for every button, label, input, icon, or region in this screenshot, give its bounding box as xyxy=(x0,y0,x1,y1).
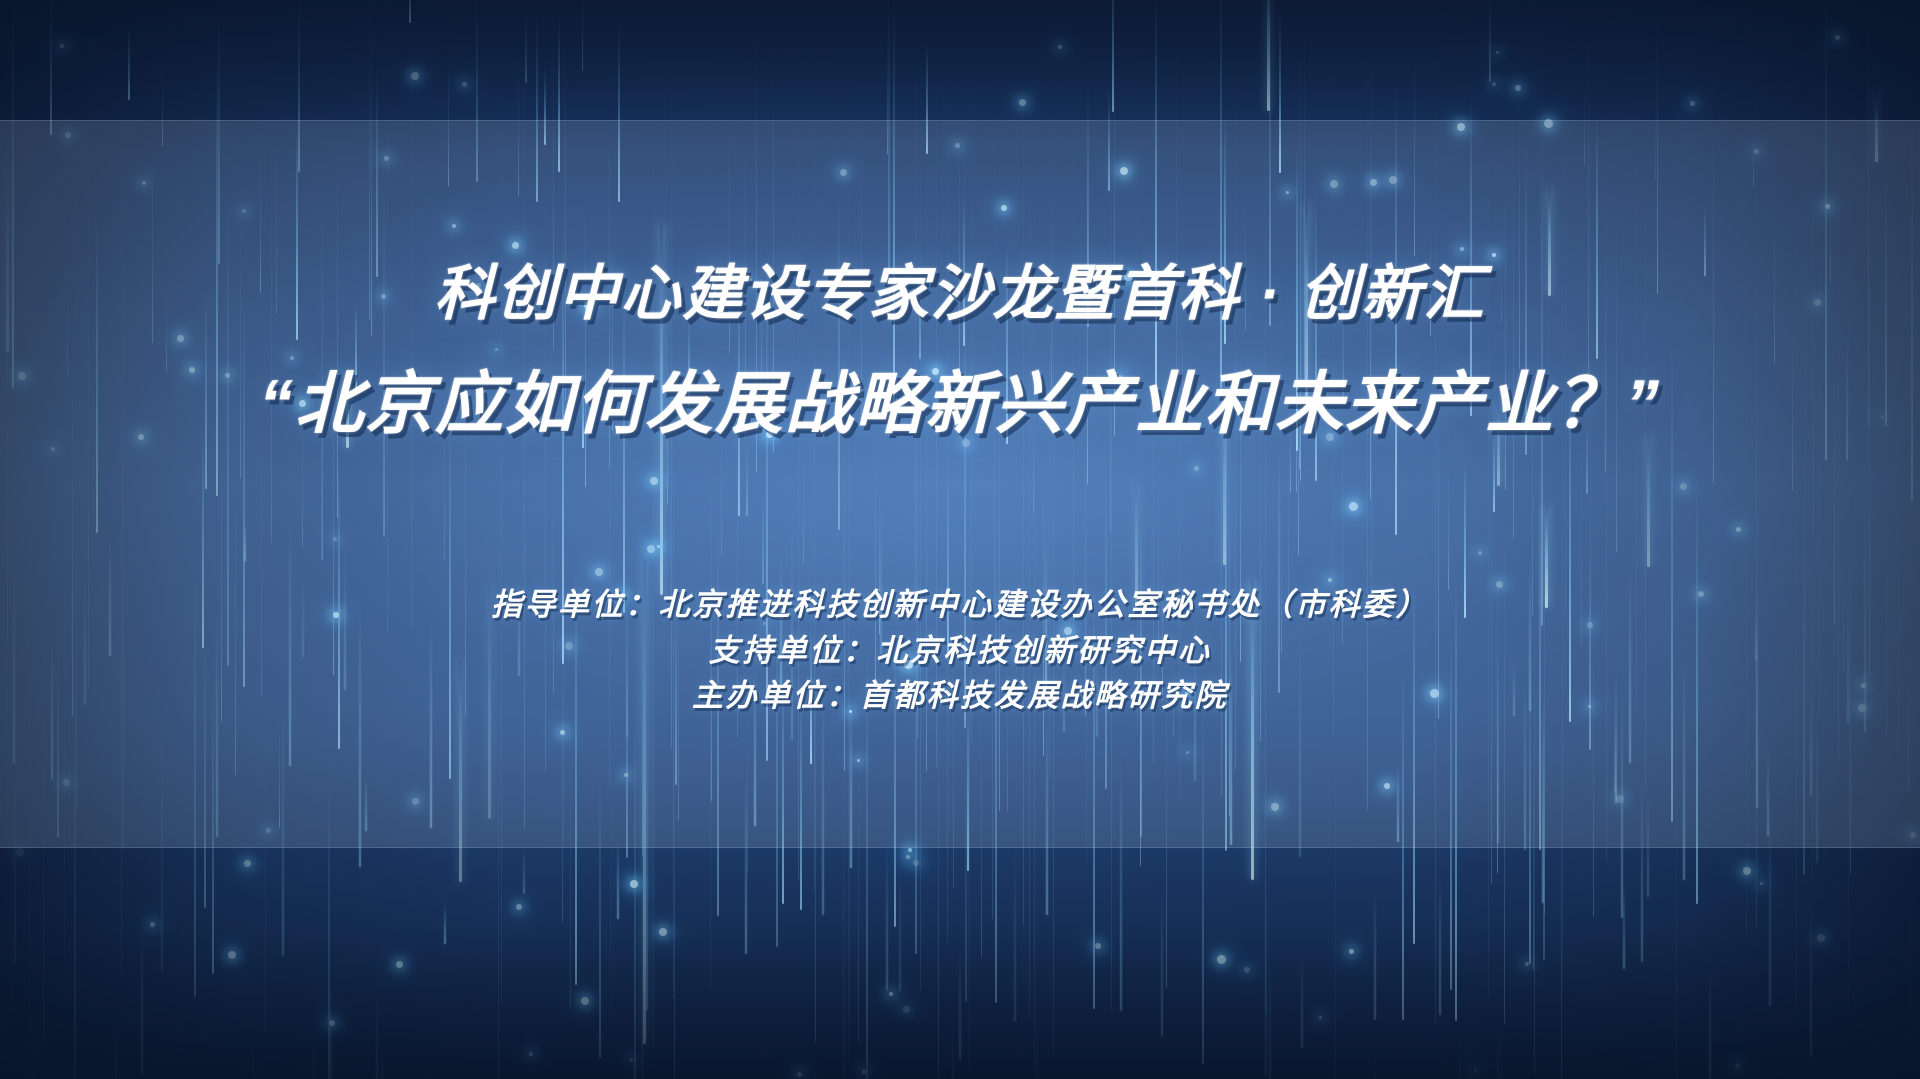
background-gradient xyxy=(0,0,1920,1079)
poster-canvas: 科创中心建设专家沙龙暨首科 · 创新汇 “北京应如何发展战略新兴产业和未来产业？… xyxy=(0,0,1920,1079)
